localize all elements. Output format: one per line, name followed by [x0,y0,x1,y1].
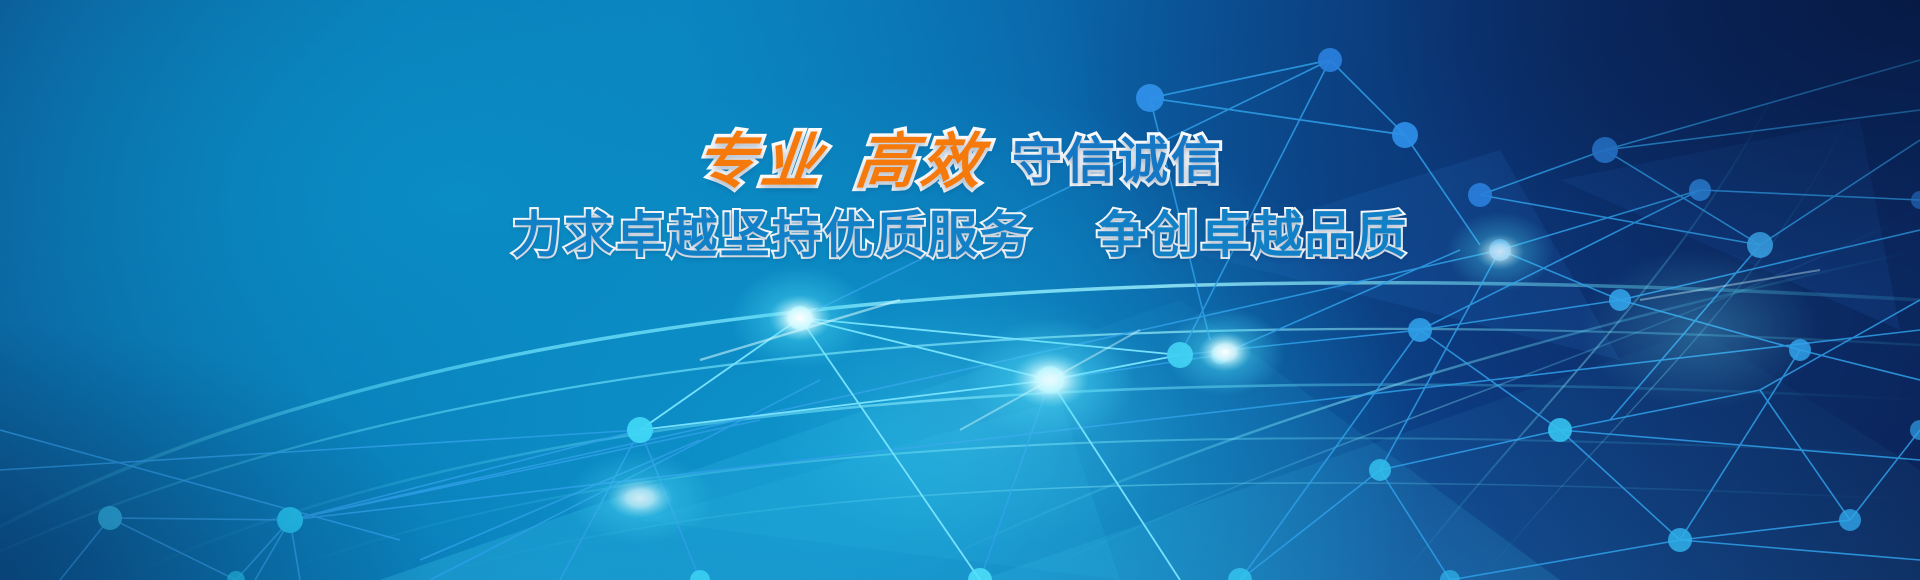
background-vignette [0,0,1920,580]
hero-banner: 专业 高效 守信诚信 力求卓越坚持优质服务 争创卓越品质 [0,0,1920,580]
